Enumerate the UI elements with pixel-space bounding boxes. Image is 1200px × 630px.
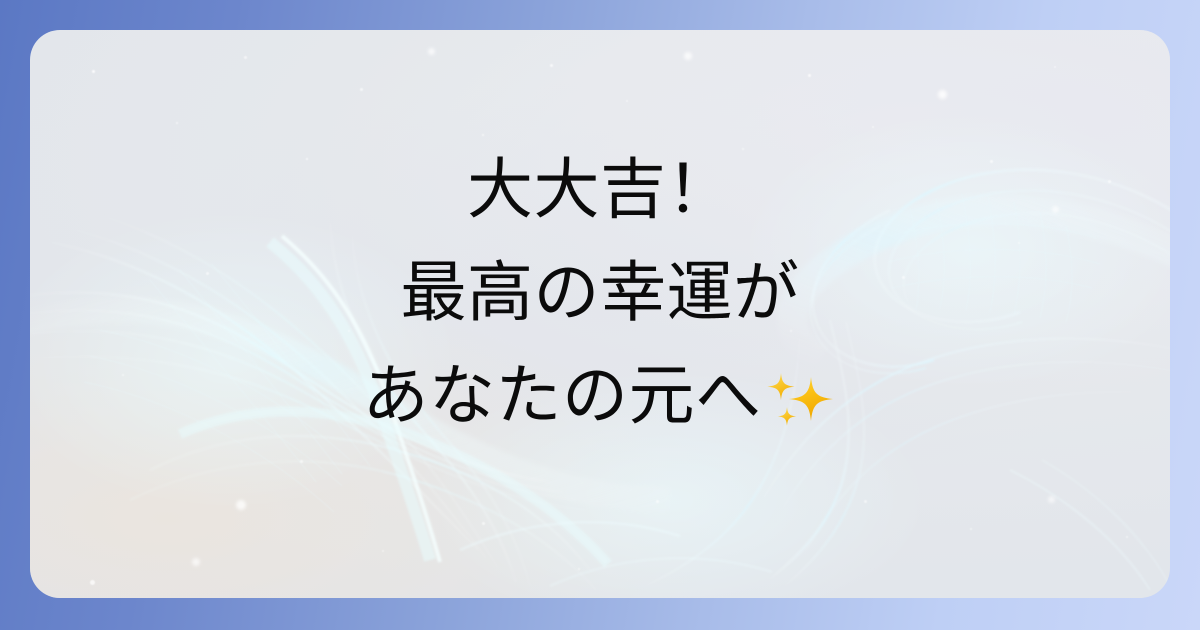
- headline-line-3-row: あなたの元へ: [0, 344, 1200, 447]
- headline-line-3: あなたの元へ: [363, 344, 762, 447]
- headline-text: 大大吉！ 最高の幸運が あなたの元へ: [0, 138, 1200, 447]
- sparkles-emoji: [766, 363, 838, 435]
- poster-canvas: 大大吉！ 最高の幸運が あなたの元へ: [0, 0, 1200, 630]
- headline-line-2: 最高の幸運が: [0, 241, 1200, 344]
- headline-line-1: 大大吉！: [0, 138, 1200, 241]
